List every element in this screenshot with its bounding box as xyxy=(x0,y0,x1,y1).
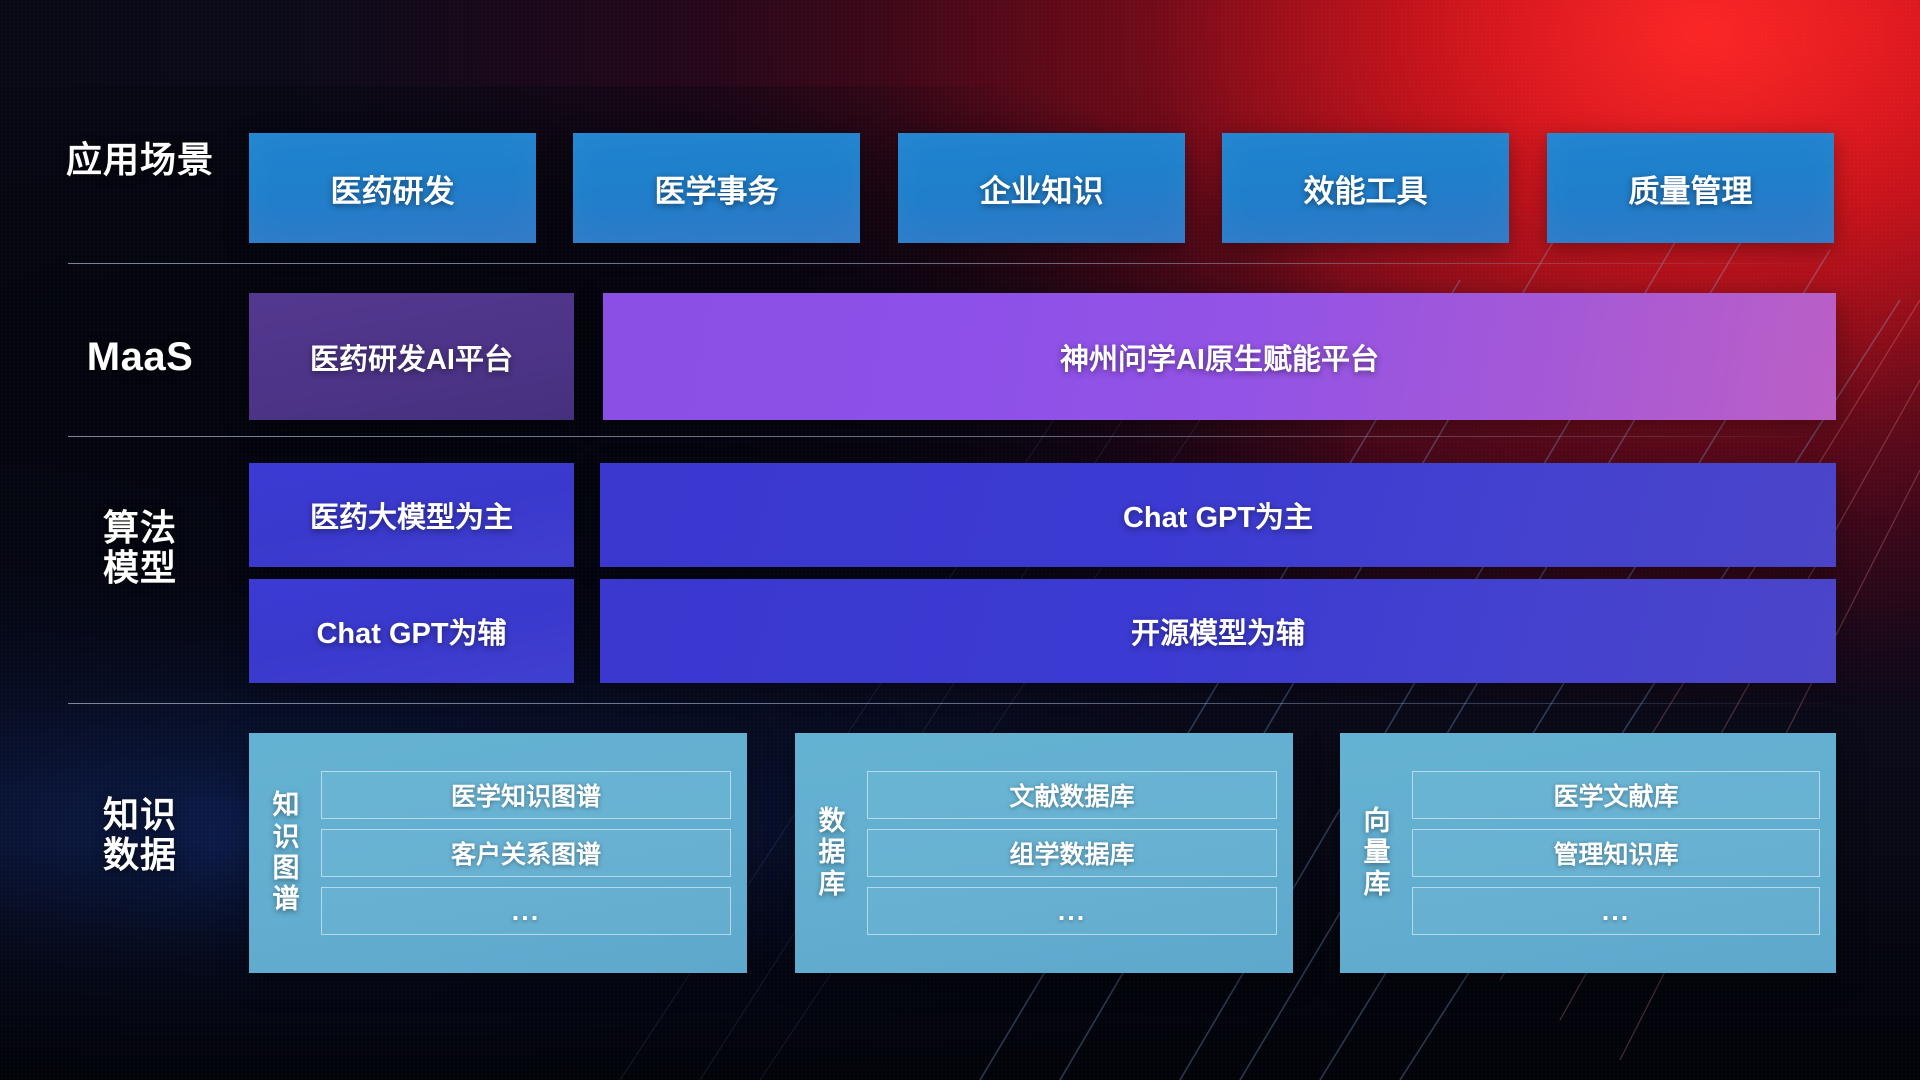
maas-box-medical-ai-platform[interactable]: 医药研发AI平台 xyxy=(249,293,574,420)
knowledge-panel-vector-items: 医学文献库 管理知识库 ... xyxy=(1412,771,1820,935)
algo-box-chatgpt-secondary-label: Chat GPT为辅 xyxy=(316,610,506,652)
divider-after-application xyxy=(68,263,1838,264)
row-label-knowledge-line2: 数据 xyxy=(55,835,225,875)
row-label-maas: MaaS xyxy=(55,335,225,380)
knowledge-panel-graph-vertical-label: 知识图谱 xyxy=(257,790,315,915)
knowledge-panel-vector[interactable]: 向量库 医学文献库 管理知识库 ... xyxy=(1340,733,1836,973)
app-box-0-label: 医药研发 xyxy=(331,166,455,211)
app-box-1[interactable]: 医学事务 xyxy=(573,133,860,243)
row-label-algorithm: 算法 模型 xyxy=(55,508,225,589)
row-label-application: 应用场景 xyxy=(55,140,225,180)
architecture-diagram: 应用场景 医药研发 医学事务 企业知识 效能工具 质量管理 MaaS 医药研发A… xyxy=(0,0,1920,1080)
knowledge-item-database-0[interactable]: 文献数据库 xyxy=(867,771,1277,819)
row-label-algorithm-line1: 算法 xyxy=(55,508,225,548)
algo-box-chatgpt-primary[interactable]: Chat GPT为主 xyxy=(600,463,1836,567)
app-box-0[interactable]: 医药研发 xyxy=(249,133,536,243)
algo-box-opensource-secondary[interactable]: 开源模型为辅 xyxy=(600,579,1836,683)
algo-box-medical-model-primary[interactable]: 医药大模型为主 xyxy=(249,463,574,567)
knowledge-item-database-2[interactable]: ... xyxy=(867,887,1277,935)
row-label-knowledge: 知识 数据 xyxy=(55,795,225,876)
knowledge-item-vector-0[interactable]: 医学文献库 xyxy=(1412,771,1820,819)
knowledge-panel-vector-vertical-label: 向量库 xyxy=(1348,806,1406,900)
knowledge-panel-database[interactable]: 数据库 文献数据库 组学数据库 ... xyxy=(795,733,1293,973)
knowledge-panel-graph[interactable]: 知识图谱 医学知识图谱 客户关系图谱 ... xyxy=(249,733,747,973)
knowledge-item-graph-0[interactable]: 医学知识图谱 xyxy=(321,771,731,819)
app-box-3[interactable]: 效能工具 xyxy=(1222,133,1509,243)
knowledge-item-vector-1[interactable]: 管理知识库 xyxy=(1412,829,1820,877)
row-label-maas-text: MaaS xyxy=(55,335,225,380)
algo-box-medical-model-primary-label: 医药大模型为主 xyxy=(310,494,513,536)
app-box-2[interactable]: 企业知识 xyxy=(898,133,1185,243)
maas-box-medical-ai-platform-label: 医药研发AI平台 xyxy=(310,336,513,378)
knowledge-item-vector-2[interactable]: ... xyxy=(1412,887,1820,935)
algo-box-chatgpt-secondary[interactable]: Chat GPT为辅 xyxy=(249,579,574,683)
divider-after-maas xyxy=(68,436,1838,437)
row-label-application-text: 应用场景 xyxy=(55,140,225,180)
app-box-4-label: 质量管理 xyxy=(1629,166,1753,211)
app-box-4[interactable]: 质量管理 xyxy=(1547,133,1834,243)
knowledge-panel-database-items: 文献数据库 组学数据库 ... xyxy=(867,771,1277,935)
knowledge-panel-graph-items: 医学知识图谱 客户关系图谱 ... xyxy=(321,771,731,935)
maas-box-shenzhou-platform[interactable]: 神州问学AI原生赋能平台 xyxy=(603,293,1836,420)
knowledge-panel-database-vertical-label: 数据库 xyxy=(803,806,861,900)
algo-box-chatgpt-primary-label: Chat GPT为主 xyxy=(1123,494,1313,536)
knowledge-item-graph-2[interactable]: ... xyxy=(321,887,731,935)
algo-box-opensource-secondary-label: 开源模型为辅 xyxy=(1131,610,1305,652)
app-box-1-label: 医学事务 xyxy=(655,166,779,211)
divider-after-algorithm xyxy=(68,703,1838,704)
app-box-2-label: 企业知识 xyxy=(980,166,1104,211)
knowledge-item-database-1[interactable]: 组学数据库 xyxy=(867,829,1277,877)
row-label-knowledge-line1: 知识 xyxy=(55,795,225,835)
maas-box-shenzhou-platform-label: 神州问学AI原生赋能平台 xyxy=(1060,336,1379,378)
row-label-algorithm-line2: 模型 xyxy=(55,548,225,588)
app-box-3-label: 效能工具 xyxy=(1304,166,1428,211)
knowledge-item-graph-1[interactable]: 客户关系图谱 xyxy=(321,829,731,877)
